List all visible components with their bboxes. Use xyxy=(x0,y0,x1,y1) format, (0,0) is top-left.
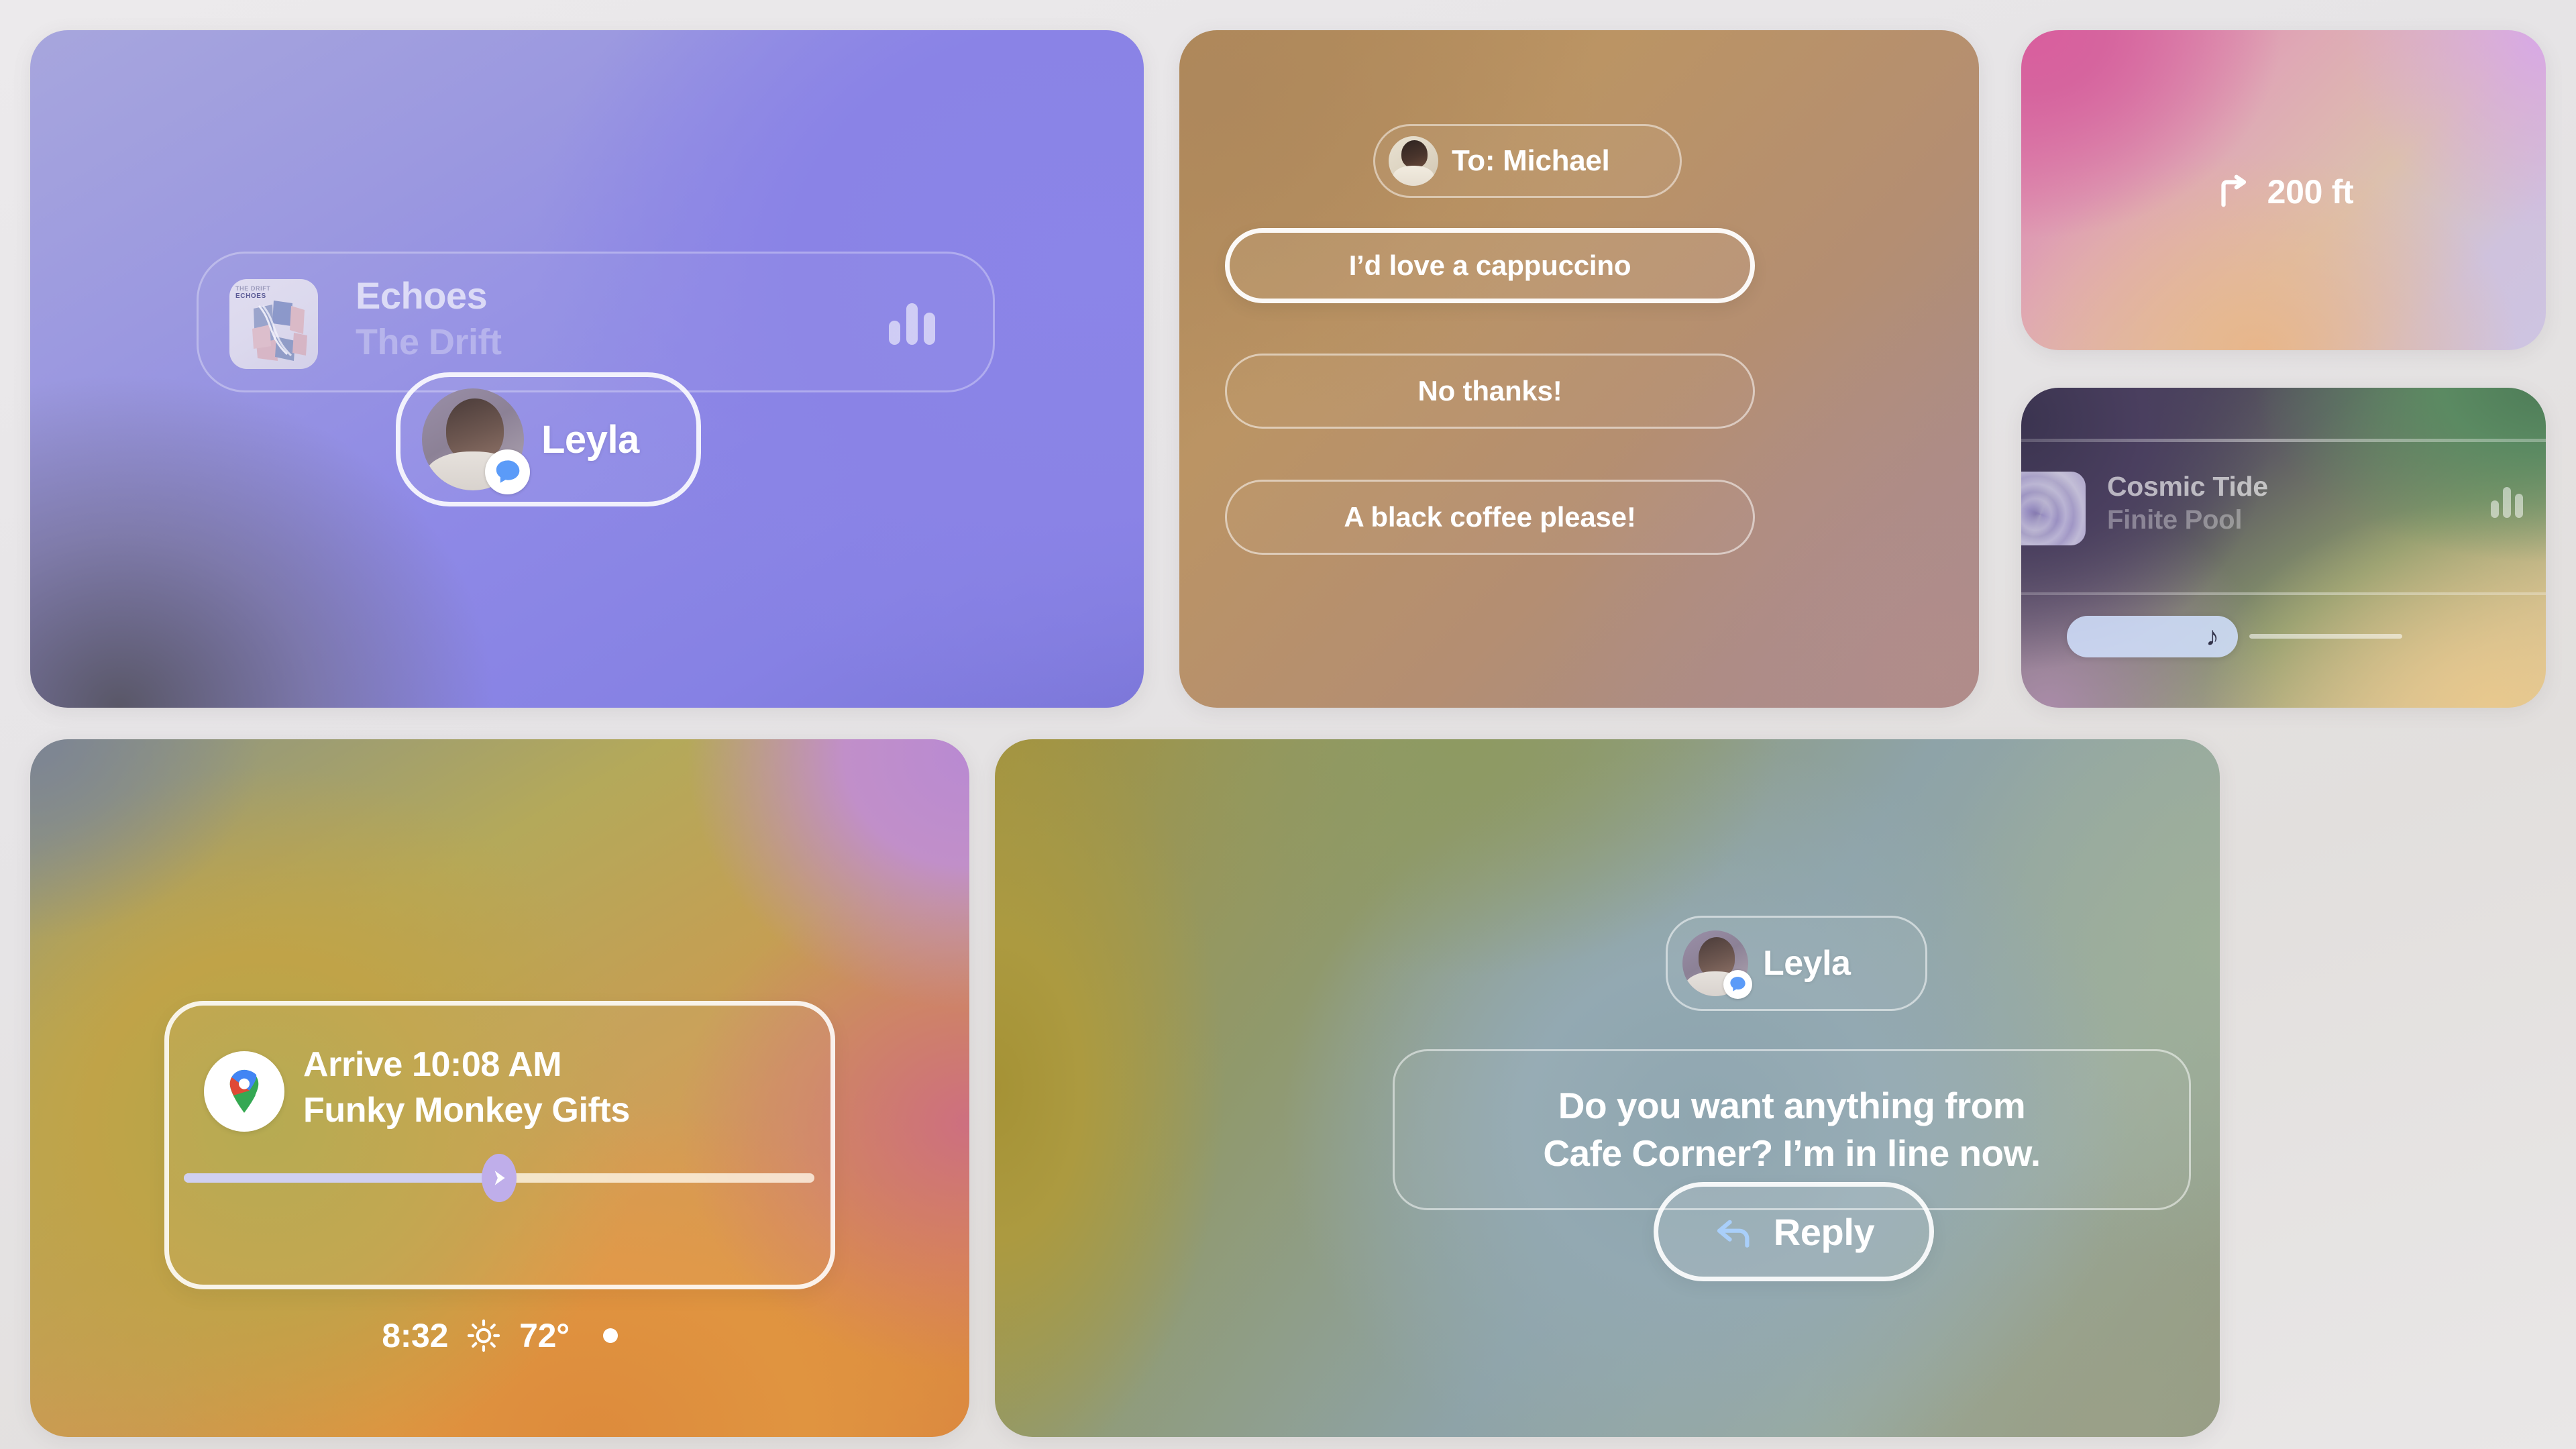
clock-label: 8:32 xyxy=(382,1316,448,1355)
cosmic-meta: Cosmic Tide Finite Pool xyxy=(2107,471,2268,535)
volume-slider-track[interactable] xyxy=(2249,634,2402,639)
quick-replies-card[interactable]: To: Michael I’d love a cappuccino No tha… xyxy=(1179,30,1979,708)
sender-name: Leyla xyxy=(1763,943,1850,983)
status-row: 8:32 72° xyxy=(164,1316,835,1355)
contact-chip-leyla[interactable]: Leyla xyxy=(396,372,701,506)
recipient-label: To: Michael xyxy=(1452,144,1609,178)
reply-option-1[interactable]: No thanks! xyxy=(1225,354,1755,429)
widget-board: THE DRIFT ECHOES xyxy=(0,0,2576,1449)
distance-label: 200 ft xyxy=(2267,172,2354,211)
turn-right-icon xyxy=(2214,172,2253,211)
maps-eta-panel[interactable]: Arrive 10:08 AM Funky Monkey Gifts xyxy=(164,1001,835,1289)
navigation-row: 200 ft xyxy=(2021,172,2546,211)
music-player-card[interactable]: THE DRIFT ECHOES xyxy=(30,30,1144,708)
avatar xyxy=(1389,136,1438,186)
message-line-2: Cafe Corner? I’m in line now. xyxy=(1543,1132,2040,1174)
album-art-echoes: THE DRIFT ECHOES xyxy=(229,279,318,369)
contact-name: Leyla xyxy=(541,417,639,462)
temperature-label: 72° xyxy=(519,1316,570,1355)
messages-bubble-icon xyxy=(1723,970,1752,999)
play-triangle-icon xyxy=(490,1168,508,1188)
cosmic-track-title: Cosmic Tide xyxy=(2107,471,2268,502)
track-title: Echoes xyxy=(356,274,502,317)
status-dot-icon xyxy=(603,1328,618,1343)
equalizer-icon xyxy=(2491,487,2523,518)
cosmic-track-artist: Finite Pool xyxy=(2107,505,2268,535)
reply-button-label: Reply xyxy=(1774,1210,1875,1254)
now-playing-meta: Echoes The Drift xyxy=(356,274,502,363)
google-maps-pin-icon xyxy=(204,1051,284,1132)
equalizer-icon xyxy=(889,303,935,345)
maps-navigation-card[interactable]: Arrive 10:08 AM Funky Monkey Gifts 8:32 xyxy=(30,739,969,1437)
sun-icon xyxy=(467,1319,500,1352)
sender-chip-leyla[interactable]: Leyla xyxy=(1666,916,1927,1011)
recipient-chip[interactable]: To: Michael xyxy=(1373,124,1682,198)
route-progress-track[interactable] xyxy=(184,1173,814,1183)
navigation-distance-card[interactable]: 200 ft xyxy=(2021,30,2546,350)
reply-option-0[interactable]: I’d love a cappuccino xyxy=(1225,228,1755,303)
maps-eta-text: Arrive 10:08 AM Funky Monkey Gifts xyxy=(303,1044,630,1130)
avatar xyxy=(422,388,524,490)
route-progress-fill xyxy=(184,1173,499,1183)
reply-arrow-icon xyxy=(1713,1214,1755,1249)
divider-top xyxy=(2021,439,2546,442)
incoming-message-card[interactable]: Leyla Do you want anything from Cafe Cor… xyxy=(995,739,2220,1437)
volume-slider-handle[interactable]: ♪ xyxy=(2067,616,2238,657)
cosmic-tide-player-card[interactable]: Cosmic Tide Finite Pool ♪ xyxy=(2021,388,2546,708)
eta-label: Arrive 10:08 AM xyxy=(303,1044,630,1085)
reply-button[interactable]: Reply xyxy=(1654,1182,1934,1281)
album-art-cosmic-tide xyxy=(2021,472,2086,545)
track-artist: The Drift xyxy=(356,321,502,363)
divider-mid xyxy=(2021,592,2546,595)
route-progress-handle[interactable] xyxy=(482,1154,517,1202)
music-note-icon: ♪ xyxy=(2206,623,2219,650)
message-body: Do you want anything from Cafe Corner? I… xyxy=(1543,1082,2040,1178)
message-line-1: Do you want anything from xyxy=(1558,1085,2025,1126)
destination-label: Funky Monkey Gifts xyxy=(303,1090,630,1130)
avatar xyxy=(1682,930,1748,996)
now-playing-strip[interactable]: THE DRIFT ECHOES xyxy=(197,252,995,392)
messages-bubble-icon xyxy=(485,449,530,494)
reply-option-2[interactable]: A black coffee please! xyxy=(1225,480,1755,555)
